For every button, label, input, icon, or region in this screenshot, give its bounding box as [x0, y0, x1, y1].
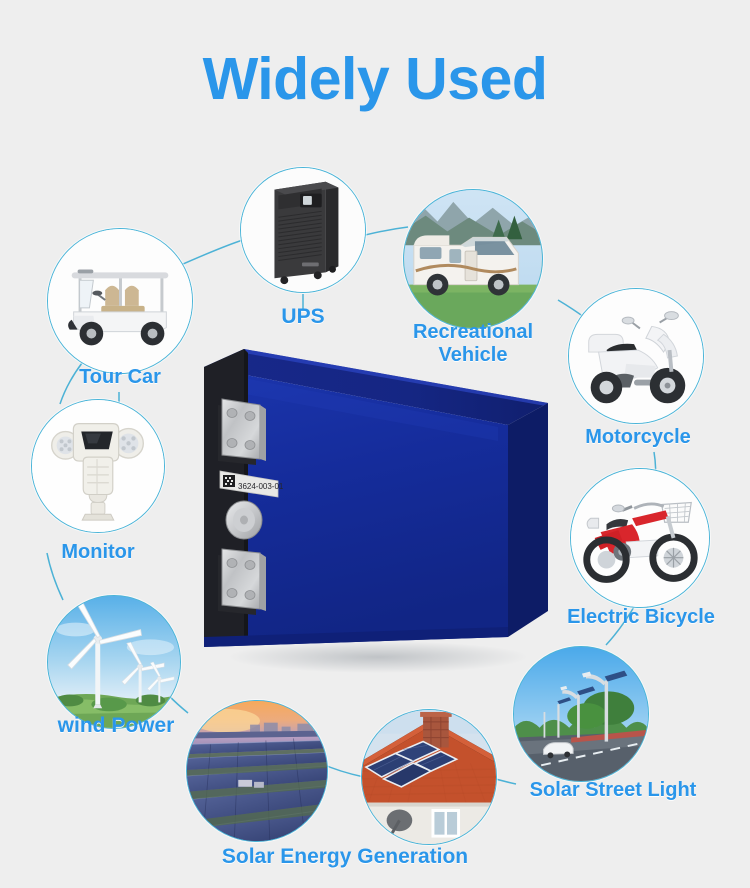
scooter-icon: [568, 288, 704, 424]
battery-terminal-negative: [218, 549, 266, 615]
motorhome-icon: [403, 189, 543, 329]
application-label-electric-bicycle: Electric Bicycle: [553, 606, 729, 629]
application-label-motorcycle: Motorcycle: [560, 426, 716, 449]
golf-cart-icon: [47, 228, 193, 374]
page-title: Widely Used: [0, 48, 750, 112]
infographic-page: Widely Used: [0, 0, 750, 888]
application-label-solar-energy-generation: Solar Energy Generation: [200, 845, 490, 869]
wind-turbine-icon: [47, 595, 181, 729]
product-battery-cell: 3624-003-01: [178, 337, 548, 682]
battery-vent-valve: [226, 501, 262, 539]
rooftop-solar-icon: [361, 709, 497, 845]
electric-bike-icon: [570, 468, 710, 608]
battery-label-text: 3624-003-01: [238, 482, 284, 491]
cctv-camera-icon: [31, 399, 165, 533]
application-label-ups: UPS: [241, 305, 365, 329]
application-label-wind-power: wind Power: [28, 714, 204, 738]
application-label-monitor: Monitor: [10, 541, 186, 564]
ups-tower-icon: [240, 167, 366, 293]
battery-terminal-positive: [218, 399, 266, 465]
solar-farm-icon: [186, 700, 328, 842]
application-label-solar-street-light: Solar Street Light: [497, 779, 729, 802]
